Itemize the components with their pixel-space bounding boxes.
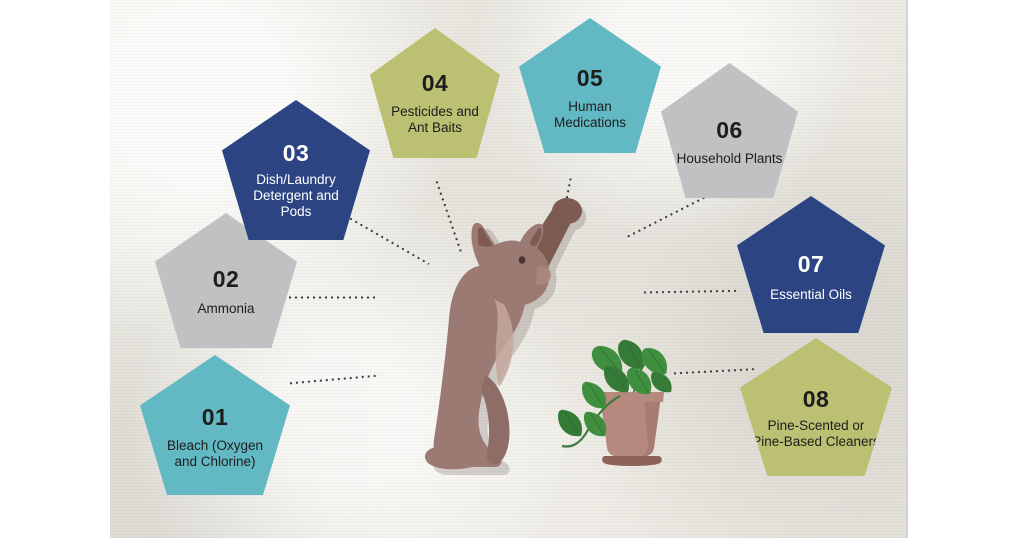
- pentagon-label-02: Ammonia: [197, 301, 254, 317]
- pentagon-number-05: 05: [577, 67, 604, 90]
- connector-line-02: [287, 296, 379, 299]
- cat-paw: [552, 198, 582, 224]
- pentagon-label-03: Dish/Laundry Detergent and Pods: [236, 172, 356, 220]
- pentagon-number-07: 07: [798, 253, 825, 276]
- pentagon-number-06: 06: [716, 119, 743, 142]
- pentagon-number-08: 08: [803, 388, 830, 411]
- plant-pot-rim: [597, 392, 664, 402]
- plant-saucer: [602, 456, 662, 466]
- pentagon-number-01: 01: [202, 406, 229, 429]
- cat-eye: [519, 256, 526, 264]
- potted-plant-illustration: [548, 320, 683, 475]
- pentagon-label-06: Household Plants: [677, 151, 783, 167]
- pentagon-label-01: Bleach (Oxygen and Chlorine): [156, 438, 274, 470]
- pentagon-label-04: Pesticides and Ant Baits: [382, 104, 488, 136]
- pentagon-label-08: Pine-Scented or Pine-Based Cleaners: [752, 418, 880, 450]
- infographic-canvas: 01 Bleach (Oxygen and Chlorine) 02 Ammon…: [0, 0, 1024, 538]
- pentagon-label-05: Human Medications: [535, 99, 645, 131]
- pentagon-number-04: 04: [422, 72, 449, 95]
- pentagon-label-07: Essential Oils: [770, 287, 852, 303]
- pentagon-number-03: 03: [283, 142, 310, 165]
- pentagon-number-02: 02: [213, 268, 240, 291]
